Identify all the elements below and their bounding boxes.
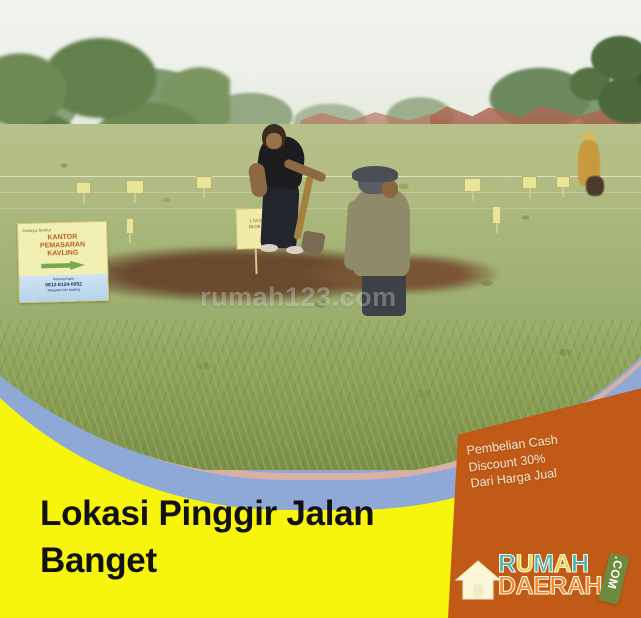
plot-marker: [522, 176, 537, 189]
worker-legs: [362, 272, 406, 316]
distant-person-shadow: [586, 176, 604, 196]
worker-face: [382, 180, 398, 198]
headline-line-2: Banget: [40, 537, 480, 584]
plot-marker: [492, 206, 501, 224]
brand-logo: RUMAH DAERAH .COM: [452, 548, 641, 614]
plot-marker: [196, 176, 212, 189]
marketing-signboard: Cahaya Sentul KANTOR PEMASARAN KAVLING H…: [17, 221, 109, 303]
worker-cap: [352, 166, 398, 182]
headline-line-1: Lokasi Pinggir Jalan: [40, 490, 480, 537]
signboard-note: Melayani Info Kavling: [20, 287, 108, 293]
worker-sandal: [260, 244, 278, 252]
plot-marker: [464, 178, 481, 192]
poster-image: Cahaya Sentul KANTOR PEMASARAN KAVLING H…: [0, 0, 641, 618]
signboard-arrow-icon: [41, 260, 85, 270]
house-icon: [454, 558, 502, 602]
fence-wire: [0, 208, 641, 209]
plot-marker: [126, 218, 134, 234]
plot-marker: [76, 182, 91, 194]
signboard-contact-strip: Hubungi Kami 0812-8124-0052 Melayani Inf…: [19, 274, 108, 302]
plot-marker: [126, 180, 144, 194]
signboard-title-line3: KAVLING: [19, 249, 107, 259]
property-photo: Cahaya Sentul KANTOR PEMASARAN KAVLING H…: [0, 0, 641, 470]
headline: Lokasi Pinggir Jalan Banget: [40, 490, 480, 584]
worker-face: [266, 133, 282, 149]
fence-wire: [0, 192, 641, 193]
plot-marker: [556, 176, 570, 188]
photo-clip: Cahaya Sentul KANTOR PEMASARAN KAVLING H…: [0, 0, 641, 477]
